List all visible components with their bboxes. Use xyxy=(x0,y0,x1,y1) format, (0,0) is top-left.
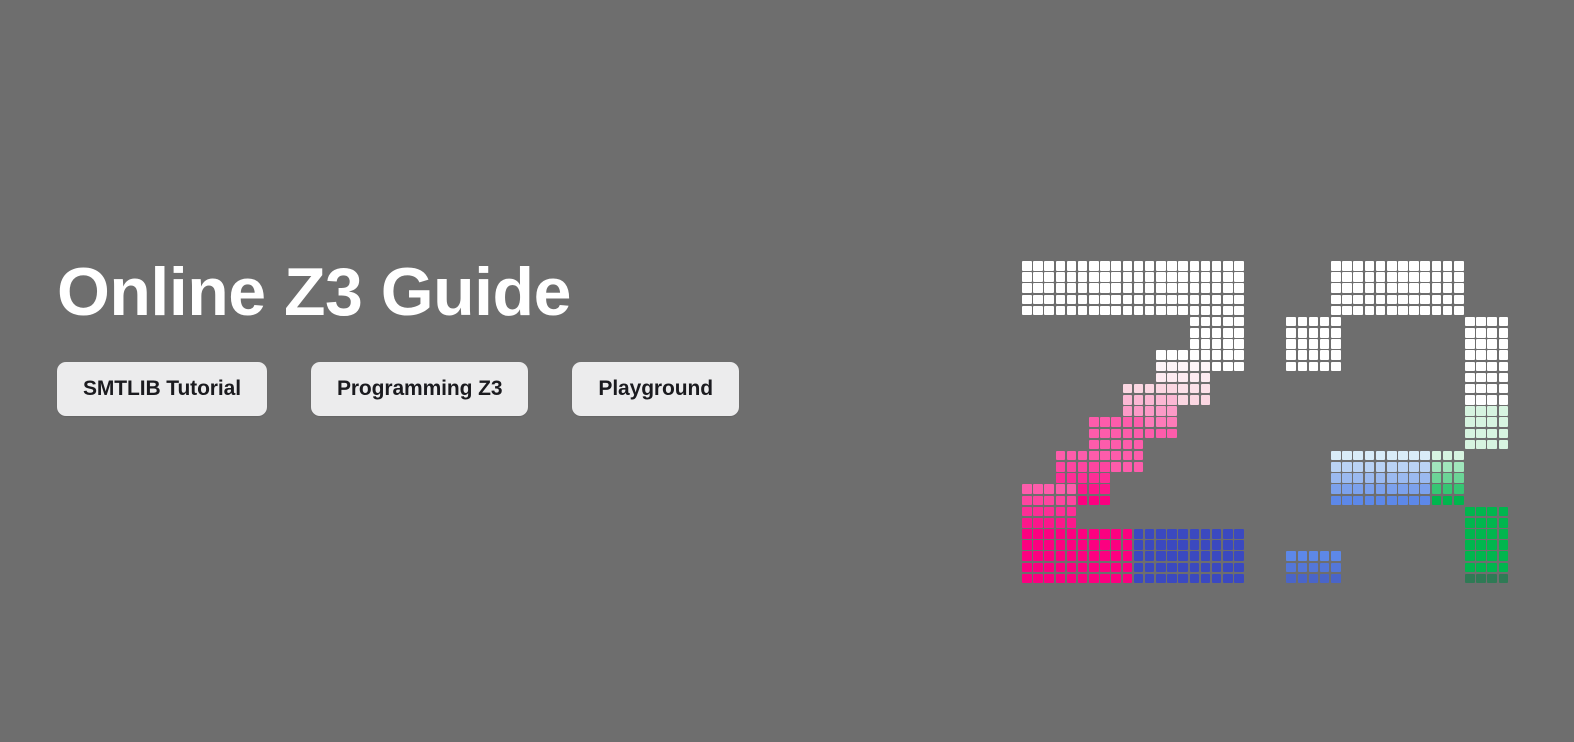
logo-pixel xyxy=(1033,306,1043,316)
logo-pixel xyxy=(1201,384,1211,394)
logo-pixel xyxy=(1190,384,1200,394)
logo-pixel xyxy=(1100,451,1110,461)
logo-pixel xyxy=(1056,507,1066,517)
logo-pixel xyxy=(1387,473,1397,483)
logo-pixel xyxy=(1078,283,1088,293)
logo-pixel xyxy=(1022,306,1032,316)
logo-pixel xyxy=(1398,306,1408,316)
logo-pixel xyxy=(1234,295,1244,305)
logo-pixel xyxy=(1100,440,1110,450)
logo-pixel xyxy=(1320,328,1330,338)
logo-pixel xyxy=(1223,529,1233,539)
logo-pixel xyxy=(1111,440,1121,450)
hero-section: Online Z3 Guide SMTLIB Tutorial Programm… xyxy=(57,258,977,416)
logo-pixel xyxy=(1309,563,1319,573)
logo-pixel xyxy=(1365,306,1375,316)
programming-z3-button[interactable]: Programming Z3 xyxy=(311,362,528,416)
logo-pixel xyxy=(1111,563,1121,573)
logo-pixel xyxy=(1190,563,1200,573)
logo-pixel xyxy=(1331,272,1341,282)
logo-pixel xyxy=(1331,317,1341,327)
logo-pixel xyxy=(1089,529,1099,539)
logo-pixel xyxy=(1178,540,1188,550)
logo-pixel xyxy=(1476,563,1486,573)
page-root: Online Z3 Guide SMTLIB Tutorial Programm… xyxy=(0,0,1574,742)
logo-pixel xyxy=(1342,272,1352,282)
logo-pixel xyxy=(1078,295,1088,305)
logo-pixel xyxy=(1499,339,1509,349)
logo-pixel xyxy=(1212,306,1222,316)
logo-pixel xyxy=(1089,306,1099,316)
logo-pixel xyxy=(1234,339,1244,349)
logo-pixel xyxy=(1298,362,1308,372)
logo-pixel xyxy=(1067,529,1077,539)
logo-pixel xyxy=(1454,306,1464,316)
logo-pixel xyxy=(1167,563,1177,573)
logo-pixel xyxy=(1331,574,1341,584)
logo-pixel xyxy=(1342,306,1352,316)
logo-pixel xyxy=(1044,261,1054,271)
logo-pixel xyxy=(1432,462,1442,472)
logo-pixel xyxy=(1056,540,1066,550)
logo-pixel xyxy=(1398,261,1408,271)
logo-pixel xyxy=(1044,518,1054,528)
logo-pixel xyxy=(1432,473,1442,483)
logo-pixel xyxy=(1089,496,1099,506)
logo-pixel xyxy=(1190,574,1200,584)
logo-pixel xyxy=(1234,551,1244,561)
logo-pixel xyxy=(1134,406,1144,416)
logo-pixel xyxy=(1067,507,1077,517)
logo-pixel xyxy=(1409,261,1419,271)
logo-pixel xyxy=(1365,272,1375,282)
logo-pixel xyxy=(1487,373,1497,383)
logo-pixel xyxy=(1033,484,1043,494)
logo-pixel xyxy=(1331,283,1341,293)
logo-pixel xyxy=(1145,384,1155,394)
logo-pixel xyxy=(1487,362,1497,372)
logo-pixel xyxy=(1212,574,1222,584)
logo-pixel xyxy=(1353,261,1363,271)
logo-pixel xyxy=(1178,350,1188,360)
logo-pixel xyxy=(1022,272,1032,282)
logo-pixel xyxy=(1100,306,1110,316)
logo-pixel xyxy=(1320,551,1330,561)
logo-pixel xyxy=(1123,295,1133,305)
logo-pixel xyxy=(1465,373,1475,383)
logo-pixel xyxy=(1234,283,1244,293)
logo-pixel xyxy=(1044,551,1054,561)
logo-pixel xyxy=(1465,574,1475,584)
logo-pixel xyxy=(1123,540,1133,550)
logo-pixel xyxy=(1499,440,1509,450)
logo-pixel xyxy=(1056,272,1066,282)
logo-pixel xyxy=(1454,484,1464,494)
logo-pixel xyxy=(1022,295,1032,305)
logo-pixel xyxy=(1123,283,1133,293)
logo-pixel xyxy=(1476,328,1486,338)
logo-pixel xyxy=(1044,574,1054,584)
logo-pixel xyxy=(1476,373,1486,383)
logo-pixel xyxy=(1089,473,1099,483)
logo-pixel xyxy=(1331,261,1341,271)
logo-pixel xyxy=(1022,563,1032,573)
logo-pixel xyxy=(1190,306,1200,316)
logo-pixel xyxy=(1398,283,1408,293)
logo-pixel xyxy=(1111,429,1121,439)
logo-pixel xyxy=(1432,306,1442,316)
logo-pixel xyxy=(1190,350,1200,360)
logo-pixel xyxy=(1342,261,1352,271)
logo-pixel xyxy=(1432,272,1442,282)
logo-pixel xyxy=(1123,429,1133,439)
logo-pixel xyxy=(1156,551,1166,561)
logo-pixel xyxy=(1201,261,1211,271)
logo-pixel xyxy=(1145,429,1155,439)
logo-pixel xyxy=(1212,563,1222,573)
logo-pixel xyxy=(1156,529,1166,539)
logo-pixel xyxy=(1156,350,1166,360)
logo-pixel xyxy=(1309,328,1319,338)
logo-pixel xyxy=(1156,261,1166,271)
logo-pixel xyxy=(1487,429,1497,439)
logo-pixel xyxy=(1212,529,1222,539)
logo-pixel xyxy=(1298,574,1308,584)
logo-pixel xyxy=(1331,350,1341,360)
logo-pixel xyxy=(1067,574,1077,584)
logo-pixel xyxy=(1123,563,1133,573)
logo-pixel xyxy=(1298,328,1308,338)
logo-pixel xyxy=(1190,529,1200,539)
logo-pixel xyxy=(1123,395,1133,405)
logo-pixel xyxy=(1487,507,1497,517)
logo-pixel xyxy=(1476,440,1486,450)
logo-pixel xyxy=(1067,451,1077,461)
logo-pixel xyxy=(1100,473,1110,483)
logo-pixel xyxy=(1353,484,1363,494)
logo-pixel xyxy=(1234,317,1244,327)
logo-pixel xyxy=(1420,283,1430,293)
logo-pixel xyxy=(1178,283,1188,293)
logo-pixel xyxy=(1387,295,1397,305)
logo-pixel xyxy=(1223,551,1233,561)
logo-pixel xyxy=(1420,451,1430,461)
logo-pixel xyxy=(1234,362,1244,372)
logo-pixel xyxy=(1454,295,1464,305)
logo-pixel xyxy=(1387,484,1397,494)
logo-pixel xyxy=(1178,563,1188,573)
logo-pixel xyxy=(1078,529,1088,539)
logo-pixel xyxy=(1201,373,1211,383)
logo-pixel xyxy=(1376,261,1386,271)
logo-pixel xyxy=(1398,484,1408,494)
logo-pixel xyxy=(1056,462,1066,472)
logo-pixel xyxy=(1056,451,1066,461)
logo-pixel xyxy=(1499,574,1509,584)
logo-pixel xyxy=(1033,496,1043,506)
logo-pixel xyxy=(1056,261,1066,271)
logo-pixel xyxy=(1234,350,1244,360)
logo-pixel xyxy=(1286,362,1296,372)
logo-pixel xyxy=(1487,529,1497,539)
logo-pixel xyxy=(1499,507,1509,517)
logo-pixel xyxy=(1465,317,1475,327)
logo-pixel xyxy=(1111,540,1121,550)
logo-pixel xyxy=(1156,406,1166,416)
logo-pixel xyxy=(1190,283,1200,293)
logo-pixel xyxy=(1476,317,1486,327)
logo-pixel xyxy=(1465,417,1475,427)
logo-pixel xyxy=(1234,540,1244,550)
logo-pixel xyxy=(1342,451,1352,461)
logo-pixel xyxy=(1111,283,1121,293)
logo-pixel xyxy=(1454,473,1464,483)
logo-pixel xyxy=(1111,529,1121,539)
logo-pixel xyxy=(1309,574,1319,584)
logo-pixel xyxy=(1353,295,1363,305)
logo-pixel xyxy=(1342,484,1352,494)
logo-pixel xyxy=(1465,362,1475,372)
logo-pixel xyxy=(1487,328,1497,338)
logo-pixel xyxy=(1167,529,1177,539)
logo-pixel xyxy=(1134,283,1144,293)
logo-pixel xyxy=(1353,272,1363,282)
logo-pixel xyxy=(1156,373,1166,383)
logo-pixel xyxy=(1499,373,1509,383)
logo-pixel xyxy=(1234,529,1244,539)
logo-pixel xyxy=(1190,551,1200,561)
logo-pixel xyxy=(1134,384,1144,394)
logo-pixel xyxy=(1167,373,1177,383)
logo-pixel xyxy=(1476,507,1486,517)
logo-pixel xyxy=(1212,350,1222,360)
logo-pixel xyxy=(1465,440,1475,450)
logo-pixel xyxy=(1201,574,1211,584)
logo-pixel xyxy=(1067,283,1077,293)
logo-pixel xyxy=(1022,540,1032,550)
logo-pixel xyxy=(1465,429,1475,439)
smtlib-tutorial-button[interactable]: SMTLIB Tutorial xyxy=(57,362,267,416)
logo-pixel xyxy=(1178,529,1188,539)
logo-pixel xyxy=(1167,283,1177,293)
logo-pixel xyxy=(1078,574,1088,584)
logo-pixel xyxy=(1100,484,1110,494)
logo-pixel xyxy=(1212,272,1222,282)
logo-pixel xyxy=(1309,317,1319,327)
logo-pixel xyxy=(1465,518,1475,528)
logo-pixel xyxy=(1111,261,1121,271)
logo-pixel xyxy=(1223,574,1233,584)
logo-pixel xyxy=(1078,261,1088,271)
logo-pixel xyxy=(1499,317,1509,327)
logo-pixel xyxy=(1365,473,1375,483)
logo-pixel xyxy=(1078,451,1088,461)
logo-pixel xyxy=(1409,295,1419,305)
logo-pixel xyxy=(1134,563,1144,573)
logo-pixel xyxy=(1487,518,1497,528)
logo-pixel xyxy=(1409,306,1419,316)
logo-pixel xyxy=(1499,417,1509,427)
logo-pixel xyxy=(1056,563,1066,573)
logo-pixel xyxy=(1223,317,1233,327)
logo-pixel xyxy=(1353,283,1363,293)
logo-pixel xyxy=(1331,451,1341,461)
logo-pixel xyxy=(1178,384,1188,394)
logo-pixel xyxy=(1078,473,1088,483)
logo-pixel xyxy=(1443,306,1453,316)
playground-button[interactable]: Playground xyxy=(572,362,739,416)
logo-pixel xyxy=(1022,518,1032,528)
logo-pixel xyxy=(1089,440,1099,450)
logo-pixel xyxy=(1134,574,1144,584)
logo-pixel xyxy=(1123,406,1133,416)
logo-pixel xyxy=(1387,306,1397,316)
logo-pixel xyxy=(1420,484,1430,494)
logo-pixel xyxy=(1487,350,1497,360)
logo-pixel xyxy=(1398,473,1408,483)
logo-pixel xyxy=(1234,272,1244,282)
logo-pixel xyxy=(1078,462,1088,472)
logo-pixel xyxy=(1022,261,1032,271)
logo-pixel xyxy=(1033,295,1043,305)
logo-pixel xyxy=(1420,496,1430,506)
logo-pixel xyxy=(1409,272,1419,282)
logo-pixel xyxy=(1309,339,1319,349)
logo-pixel xyxy=(1100,272,1110,282)
logo-pixel xyxy=(1201,362,1211,372)
logo-pixel xyxy=(1201,395,1211,405)
logo-pixel xyxy=(1201,283,1211,293)
logo-pixel xyxy=(1420,306,1430,316)
logo-pixel xyxy=(1123,384,1133,394)
logo-pixel xyxy=(1376,283,1386,293)
logo-pixel xyxy=(1331,496,1341,506)
logo-pixel xyxy=(1487,540,1497,550)
logo-pixel xyxy=(1111,451,1121,461)
logo-pixel xyxy=(1331,484,1341,494)
logo-pixel xyxy=(1134,440,1144,450)
logo-pixel xyxy=(1067,272,1077,282)
logo-pixel xyxy=(1111,462,1121,472)
logo-pixel xyxy=(1056,295,1066,305)
logo-pixel xyxy=(1123,529,1133,539)
glyph-3-icon xyxy=(1286,261,1509,585)
logo-pixel xyxy=(1156,574,1166,584)
logo-pixel xyxy=(1398,295,1408,305)
logo-pixel xyxy=(1387,283,1397,293)
logo-pixel xyxy=(1190,339,1200,349)
logo-pixel xyxy=(1167,384,1177,394)
logo-pixel xyxy=(1365,462,1375,472)
logo-pixel xyxy=(1111,574,1121,584)
logo-pixel xyxy=(1044,306,1054,316)
logo-pixel xyxy=(1145,395,1155,405)
logo-pixel xyxy=(1465,529,1475,539)
logo-pixel xyxy=(1078,563,1088,573)
logo-pixel xyxy=(1476,429,1486,439)
logo-pixel xyxy=(1056,306,1066,316)
logo-pixel xyxy=(1212,540,1222,550)
logo-pixel xyxy=(1089,451,1099,461)
logo-pixel xyxy=(1487,417,1497,427)
logo-pixel xyxy=(1409,451,1419,461)
logo-pixel xyxy=(1420,272,1430,282)
logo-pixel xyxy=(1443,496,1453,506)
logo-pixel xyxy=(1067,484,1077,494)
logo-pixel xyxy=(1212,283,1222,293)
logo-pixel xyxy=(1123,451,1133,461)
logo-pixel xyxy=(1056,473,1066,483)
logo-pixel xyxy=(1454,283,1464,293)
logo-pixel xyxy=(1365,295,1375,305)
logo-pixel xyxy=(1499,540,1509,550)
logo-pixel xyxy=(1123,417,1133,427)
logo-pixel xyxy=(1201,306,1211,316)
logo-pixel xyxy=(1443,295,1453,305)
logo-pixel xyxy=(1156,306,1166,316)
logo-pixel xyxy=(1298,339,1308,349)
logo-pixel xyxy=(1078,306,1088,316)
logo-pixel xyxy=(1190,540,1200,550)
logo-pixel xyxy=(1056,518,1066,528)
logo-pixel xyxy=(1100,462,1110,472)
logo-pixel xyxy=(1100,283,1110,293)
logo-pixel xyxy=(1432,496,1442,506)
logo-pixel xyxy=(1387,272,1397,282)
logo-pixel xyxy=(1156,540,1166,550)
logo-pixel xyxy=(1432,484,1442,494)
logo-pixel xyxy=(1134,529,1144,539)
logo-pixel xyxy=(1476,551,1486,561)
logo-pixel xyxy=(1123,306,1133,316)
logo-pixel xyxy=(1331,339,1341,349)
logo-pixel xyxy=(1033,507,1043,517)
logo-pixel xyxy=(1100,529,1110,539)
logo-pixel xyxy=(1331,462,1341,472)
logo-pixel xyxy=(1022,529,1032,539)
logo-pixel xyxy=(1022,484,1032,494)
logo-pixel xyxy=(1056,574,1066,584)
logo-pixel xyxy=(1376,451,1386,461)
logo-pixel xyxy=(1156,362,1166,372)
logo-pixel xyxy=(1100,563,1110,573)
logo-pixel xyxy=(1056,283,1066,293)
logo-pixel xyxy=(1123,440,1133,450)
logo-pixel xyxy=(1298,350,1308,360)
logo-pixel xyxy=(1476,518,1486,528)
logo-pixel xyxy=(1044,563,1054,573)
logo-pixel xyxy=(1286,551,1296,561)
logo-pixel xyxy=(1190,362,1200,372)
logo-pixel xyxy=(1499,362,1509,372)
logo-pixel xyxy=(1067,261,1077,271)
logo-pixel xyxy=(1376,306,1386,316)
logo-pixel xyxy=(1420,261,1430,271)
logo-pixel xyxy=(1342,462,1352,472)
logo-pixel xyxy=(1022,507,1032,517)
logo-pixel xyxy=(1156,384,1166,394)
logo-pixel xyxy=(1156,272,1166,282)
logo-pixel xyxy=(1134,451,1144,461)
logo-pixel xyxy=(1201,295,1211,305)
logo-pixel xyxy=(1454,261,1464,271)
logo-pixel xyxy=(1223,563,1233,573)
logo-pixel xyxy=(1022,283,1032,293)
logo-pixel xyxy=(1078,484,1088,494)
logo-pixel xyxy=(1223,272,1233,282)
logo-pixel xyxy=(1223,362,1233,372)
logo-pixel xyxy=(1178,261,1188,271)
